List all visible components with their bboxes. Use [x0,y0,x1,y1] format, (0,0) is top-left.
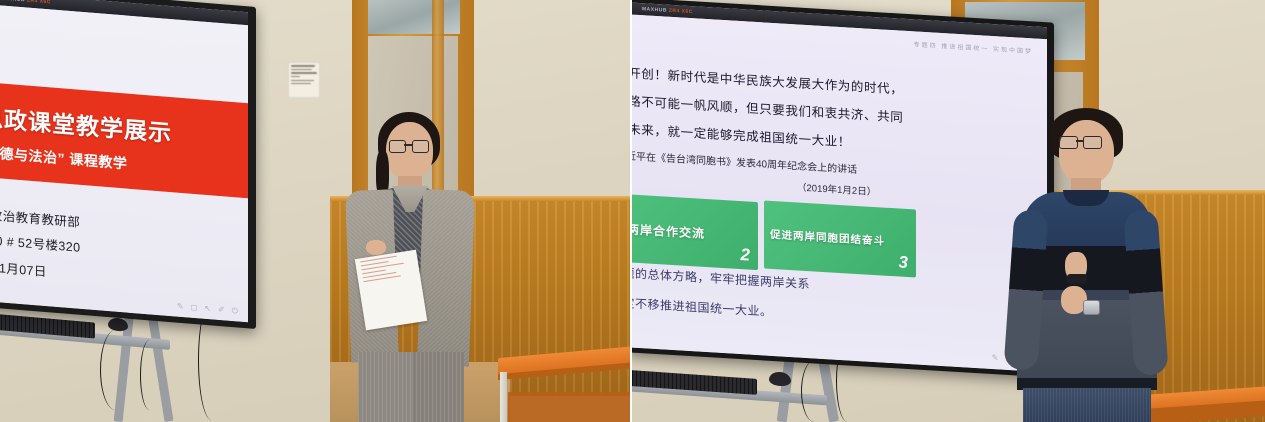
remote-clicker[interactable] [1067,274,1087,284]
green-box-3-label: 促进两岸同胞团结奋斗 [770,227,885,249]
glasses-icon [1059,136,1107,148]
green-box-2-number: 2 [741,245,750,266]
slide-meta-dept-left: 思想政治教育教研部 [0,202,80,230]
power-icon[interactable]: ⏻ [232,306,238,317]
door-transom-left [368,0,460,34]
desk-leg-left [500,372,507,422]
cable-left-1 [100,330,131,410]
presenter-trousers-left [358,352,414,422]
panel-divider [630,0,632,422]
right-scene: MAXHUB ZR4 X6C 专题四 推进祖国统一 实现中国梦 可以开创！新时代… [631,0,1265,422]
display-screen-right[interactable]: MAXHUB ZR4 X6C 专题四 推进祖国统一 实现中国梦 可以开创！新时代… [631,0,1054,378]
screenshot-root: MAXHUB ZR4 X6C 进思政课堂教学展示 思想道德与法治” 课程教学 思… [0,0,1265,422]
display-brand-logo-right: MAXHUB ZR4 X6C [642,6,693,15]
green-box-3-number: 3 [899,252,908,273]
slide-toolbar-left[interactable]: ✎ ◻ ↖ ✐ ⏻ [177,302,238,317]
display-inner-right: MAXHUB ZR4 X6C 专题四 推进祖国统一 实现中国梦 可以开创！新时代… [632,3,1047,373]
pointer-icon[interactable]: ↖ [204,304,211,315]
slide-footer-line-2: 坚定不移推进祖国统一大业。 [632,293,773,320]
display-brand-logo-left: MAXHUB ZR4 X6C [0,0,51,5]
green-box-2-label: 进两岸合作交流 [632,220,705,242]
wall-notice-left [288,62,320,98]
display-screen-left[interactable]: MAXHUB ZR4 X6C 进思政课堂教学展示 思想道德与法治” 课程教学 思… [0,0,256,329]
slide-citation-right: 近平在《告台湾同胞书》发表40周年纪念会上的讲话 [632,147,857,176]
cable-right-1 [801,360,828,422]
presenter-hand-left [366,240,386,255]
desk-panel-left [508,392,631,422]
slide-green-box-2: 进两岸合作交流 2 [632,193,758,270]
slide-meta-date-left: 25年01月07日 [0,254,47,280]
eraser-icon[interactable]: ◻ [191,303,198,314]
slide-body-line-3: 美好未来，就一定能够完成祖国统一大业！ [632,117,851,151]
presenter-papers-left [355,250,427,331]
presenter-jeans-right [1023,388,1151,422]
display-inner-left: MAXHUB ZR4 X6C 进思政课堂教学展示 思想道德与法治” 课程教学 思… [0,0,248,322]
pen-icon[interactable]: ✎ [992,353,999,363]
slide-right: 专题四 推进祖国统一 实现中国梦 可以开创！新时代是中华民族大发展大作为的时代，… [632,15,1047,373]
presenter-head-right [1059,120,1114,184]
wristwatch [1083,300,1100,315]
presenter-blazer-right-side [417,189,475,367]
cable-left-3 [140,340,159,410]
highlighter-icon[interactable]: ✐ [218,305,225,316]
slide-corner-note-right: 专题四 推进祖国统一 实现中国梦 [914,39,1033,55]
glasses-icon [389,140,431,152]
slide-left: 进思政课堂教学展示 思想道德与法治” 课程教学 思想政治教育教研部 6： 00 … [0,5,248,323]
slide-citation-date-right: （2019年1月2日） [797,179,876,198]
left-scene: MAXHUB ZR4 X6C 进思政课堂教学展示 思想道德与法治” 课程教学 思… [0,0,631,422]
presenter-trousers2-left [412,352,464,422]
pen-icon[interactable]: ✎ [177,302,184,313]
slide-green-box-3: 促进两岸同胞团结奋斗 3 [764,200,916,277]
slide-meta-location-left: 6： 00 # 52号楼320 [0,227,81,255]
